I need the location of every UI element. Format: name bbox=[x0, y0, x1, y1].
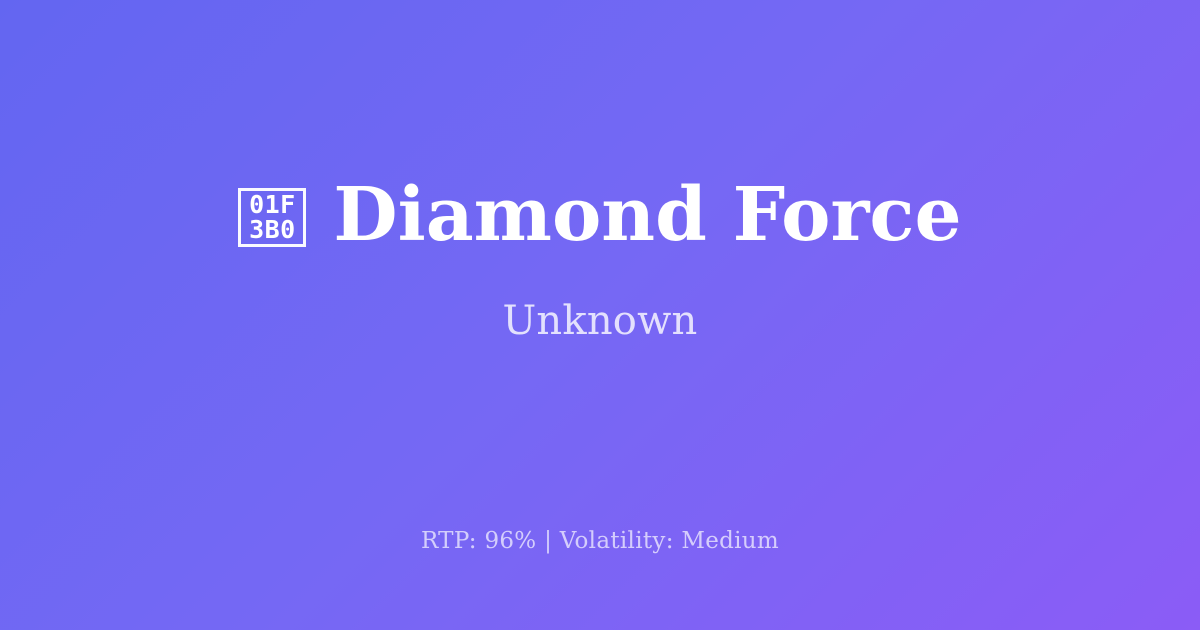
game-meta-line: RTP: 96% | Volatility: Medium bbox=[0, 528, 1200, 554]
game-subtitle: Unknown bbox=[503, 298, 698, 344]
slot-machine-icon: 01F 3B0 bbox=[238, 188, 306, 247]
game-title: Diamond Force bbox=[333, 178, 961, 252]
headline-row: 01F 3B0 Diamond Force bbox=[238, 178, 961, 252]
tofu-codepoint-bottom: 3B0 bbox=[249, 217, 296, 243]
tofu-codepoint-top: 01F bbox=[249, 192, 296, 218]
game-preview-card: 01F 3B0 Diamond Force Unknown RTP: 96% |… bbox=[0, 0, 1200, 630]
